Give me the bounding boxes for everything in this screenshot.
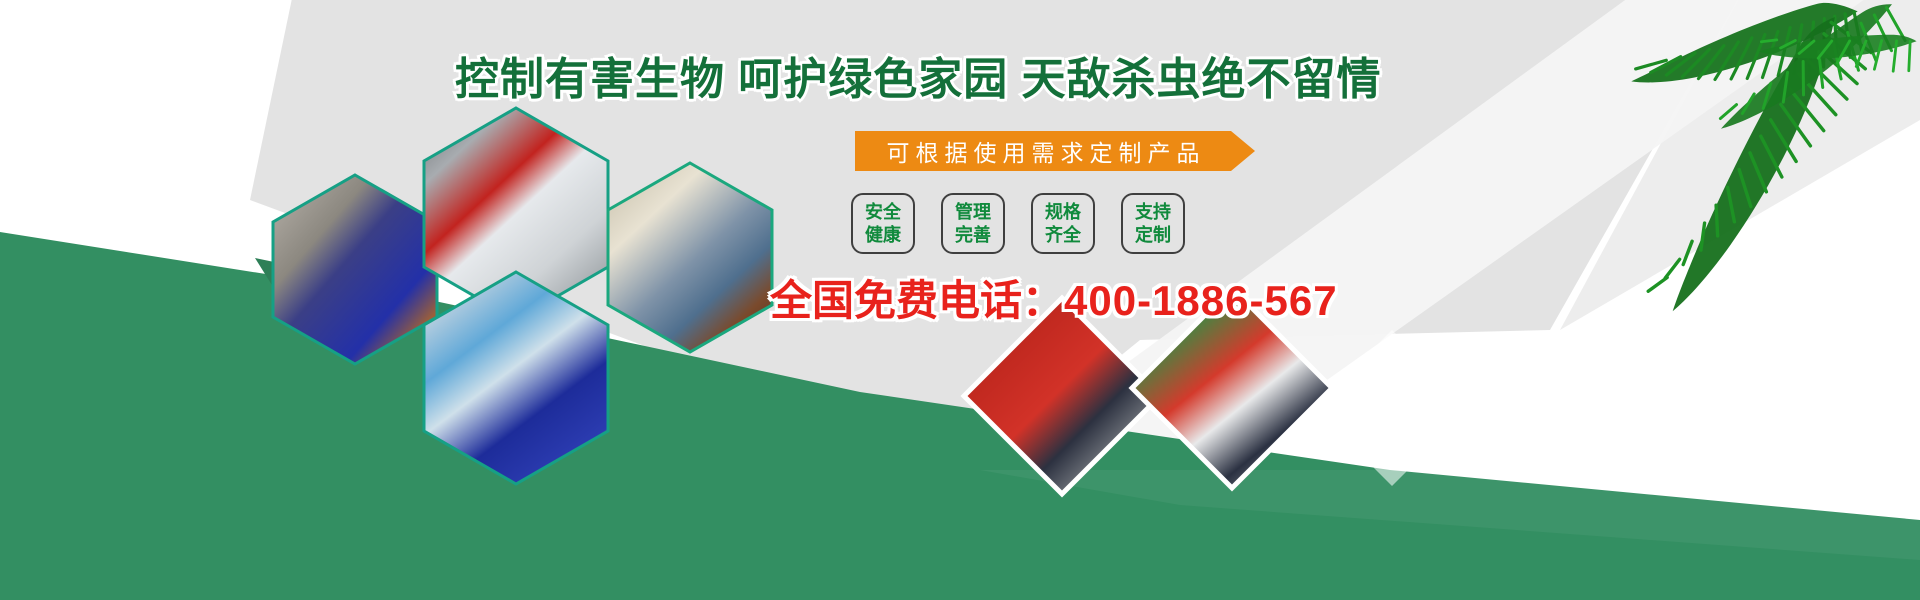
feature-badge-customization[interactable]: 支持 定制 xyxy=(1121,193,1185,254)
hotline-label: 全国免费电话： xyxy=(770,277,1064,324)
tagline-arrow-banner: 可根据使用需求定制产品 xyxy=(855,131,1255,171)
promo-banner: 控制有害生物 呵护绿色家园 天敌杀虫绝不留情 可根据使用需求定制产品 安全 健康… xyxy=(0,0,1920,600)
feature-badge-management[interactable]: 管理 完善 xyxy=(941,193,1005,254)
tagline-text: 可根据使用需求定制产品 xyxy=(855,131,1231,171)
feature-badge-list: 安全 健康 管理 完善 规格 齐全 支持 定制 xyxy=(851,193,1185,254)
badge-line-2: 定制 xyxy=(1135,224,1171,247)
hotline-number: 400-1886-567 xyxy=(1064,277,1338,324)
badge-line-2: 完善 xyxy=(955,224,991,247)
badge-line-1: 安全 xyxy=(865,201,901,224)
badge-line-2: 齐全 xyxy=(1045,224,1081,247)
badge-line-1: 规格 xyxy=(1045,201,1081,224)
page-title: 控制有害生物 呵护绿色家园 天敌杀虫绝不留情 xyxy=(455,54,1381,106)
badge-line-2: 健康 xyxy=(865,224,901,247)
feature-badge-specification[interactable]: 规格 齐全 xyxy=(1031,193,1095,254)
diamond-ghost xyxy=(1314,330,1470,486)
badge-line-1: 管理 xyxy=(955,201,991,224)
feature-badge-safety[interactable]: 安全 健康 xyxy=(851,193,915,254)
badge-line-1: 支持 xyxy=(1135,201,1171,224)
hotline[interactable]: 全国免费电话：400-1886-567 xyxy=(770,276,1338,326)
diamond-photo-technician-cart xyxy=(964,298,1160,494)
